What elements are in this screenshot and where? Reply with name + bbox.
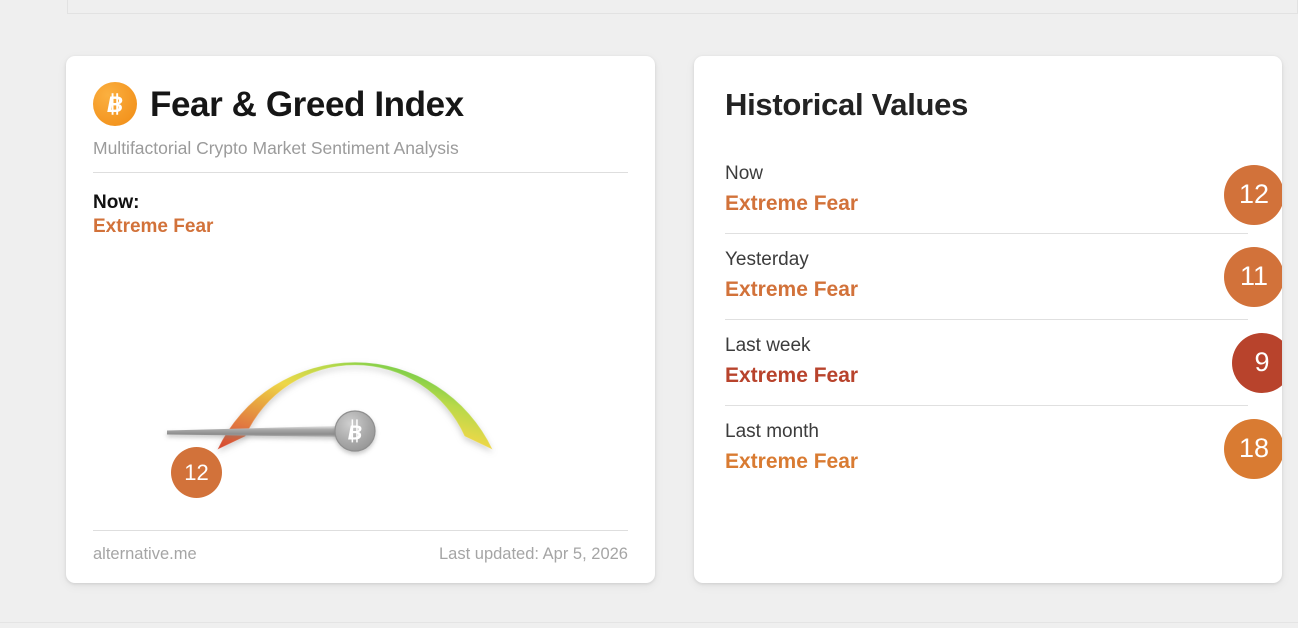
history-period: Now — [725, 162, 1248, 187]
gauge-card-header: B Fear & Greed Index — [93, 82, 628, 126]
gauge-value-badge: 12 — [171, 447, 222, 498]
source-link[interactable]: alternative.me — [93, 545, 197, 564]
gauge-hub-bitcoin-icon: B — [335, 411, 375, 451]
list-item[interactable]: Last week Extreme Fear 9 — [725, 319, 1248, 405]
now-classification: Extreme Fear — [93, 215, 628, 239]
bitcoin-icon: B — [93, 82, 137, 126]
list-item[interactable]: Last month Extreme Fear 18 — [725, 405, 1248, 491]
history-classification: Extreme Fear — [725, 447, 1248, 477]
fear-greed-gauge-card: B Fear & Greed Index Multifactorial Cryp… — [66, 56, 655, 583]
page-title: Fear & Greed Index — [150, 87, 464, 122]
status-badge: 11 — [1224, 247, 1282, 307]
gauge-card-footer: alternative.me Last updated: Apr 5, 2026 — [93, 516, 628, 564]
status-badge: 18 — [1224, 419, 1282, 479]
history-classification: Extreme Fear — [725, 275, 1248, 305]
now-label: Now: — [93, 191, 628, 215]
card-subtitle: Multifactorial Crypto Market Sentiment A… — [93, 139, 628, 158]
history-classification: Extreme Fear — [725, 361, 1248, 391]
gauge-visual: B — [66, 241, 655, 531]
page-bottom-rule — [0, 622, 1298, 623]
list-item[interactable]: Yesterday Extreme Fear 11 — [725, 233, 1248, 319]
status-badge: 12 — [1224, 165, 1282, 225]
history-period: Last month — [725, 420, 1248, 445]
gauge-svg: B — [66, 241, 655, 541]
last-updated-text: Last updated: Apr 5, 2026 — [439, 545, 628, 564]
history-title: Historical Values — [725, 89, 1248, 120]
history-period: Last week — [725, 334, 1248, 359]
historical-values-card: Historical Values Now Extreme Fear 12 Ye… — [694, 56, 1282, 583]
now-block: Now: Extreme Fear — [93, 191, 628, 239]
gauge-needle — [167, 425, 354, 437]
header-divider — [93, 172, 628, 173]
svg-text:B: B — [107, 92, 123, 117]
page-top-strip — [67, 0, 1298, 14]
history-period: Yesterday — [725, 248, 1248, 273]
history-classification: Extreme Fear — [725, 189, 1248, 219]
list-item[interactable]: Now Extreme Fear 12 — [725, 156, 1248, 233]
svg-text:B: B — [348, 422, 362, 444]
